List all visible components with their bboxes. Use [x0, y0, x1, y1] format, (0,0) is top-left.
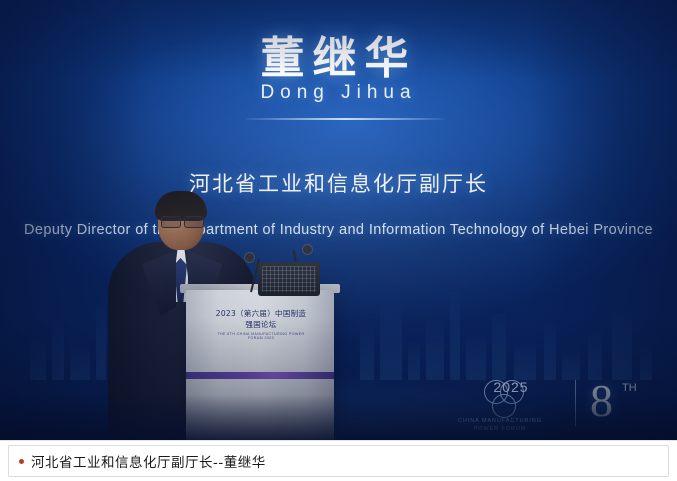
stage-photo: 董继华 Dong Jihua 河北省工业和信息化厅副厅长 Deputy Dire… — [0, 0, 677, 440]
screenshot-root: 董继华 Dong Jihua 河北省工业和信息化厅副厅长 Deputy Dire… — [0, 0, 677, 481]
bullet-icon — [19, 459, 24, 464]
caption-bar: 河北省工业和信息化厅副厅长--董继华 — [0, 440, 677, 481]
caption-text: 河北省工业和信息化厅副厅长--董继华 — [31, 451, 266, 471]
photo-vignette — [0, 0, 677, 440]
caption-frame: 河北省工业和信息化厅副厅长--董继华 — [8, 445, 669, 477]
